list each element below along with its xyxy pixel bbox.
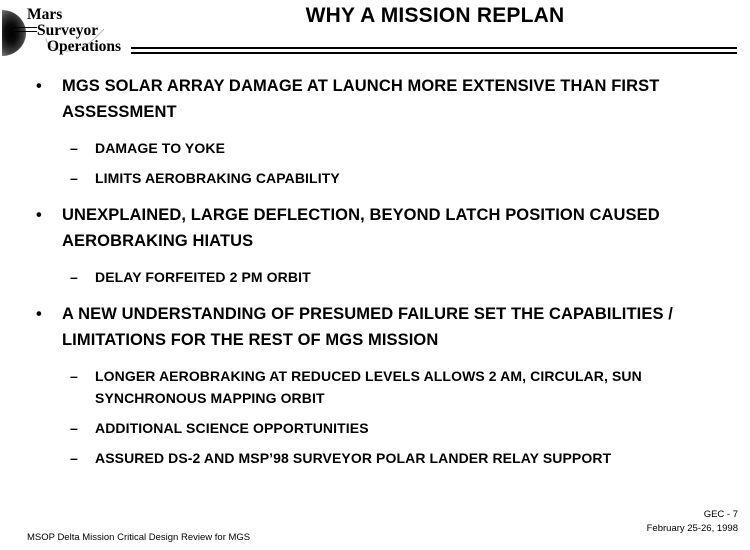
slide-footer: MSOP Delta Mission Critical Design Revie… xyxy=(0,505,750,550)
wordmark-line-3: Operations xyxy=(47,39,121,56)
bullet-level1: • UNEXPLAINED, LARGE DEFLECTION, BEYOND … xyxy=(0,203,750,254)
bullet-level1-text: MGS SOLAR ARRAY DAMAGE AT LAUNCH MORE EX… xyxy=(62,74,682,125)
page-title: WHY A MISSION REPLAN xyxy=(200,4,670,28)
bullet-level2: – DELAY FORFEITED 2 PM ORBIT xyxy=(0,266,750,288)
bullet-level2: – ASSURED DS-2 AND MSP’98 SURVEYOR POLAR… xyxy=(0,447,750,469)
footer-right-block: GEC - 7 February 25-26, 1998 xyxy=(647,508,738,536)
slide-header: Mars Surveyor Operations WHY A MISSION R… xyxy=(0,0,750,62)
bullet-dash-icon: – xyxy=(70,137,78,159)
footer-date-label: February 25-26, 1998 xyxy=(647,522,738,536)
bullet-dash-icon: – xyxy=(70,365,78,387)
bullet-level2-text: ADDITIONAL SCIENCE OPPORTUNITIES xyxy=(95,417,665,439)
bullet-level1: • MGS SOLAR ARRAY DAMAGE AT LAUNCH MORE … xyxy=(0,74,750,125)
bullet-dash-icon: – xyxy=(70,266,78,288)
bullet-level2-text: DELAY FORFEITED 2 PM ORBIT xyxy=(95,266,665,288)
slide-body: • MGS SOLAR ARRAY DAMAGE AT LAUNCH MORE … xyxy=(0,74,750,469)
bullet-level2: – DAMAGE TO YOKE xyxy=(0,137,750,159)
bullet-level2: – LIMITS AEROBRAKING CAPABILITY xyxy=(0,167,750,189)
bullet-dash-icon: – xyxy=(70,447,78,469)
bullet-level1-text: A NEW UNDERSTANDING OF PRESUMED FAILURE … xyxy=(62,302,682,353)
bullet-level1: • A NEW UNDERSTANDING OF PRESUMED FAILUR… xyxy=(0,302,750,353)
bullet-dot-icon: • xyxy=(36,302,42,328)
bullet-dot-icon: • xyxy=(36,74,42,100)
bullet-level2: – ADDITIONAL SCIENCE OPPORTUNITIES xyxy=(0,417,750,439)
bullet-level2-text: ASSURED DS-2 AND MSP’98 SURVEYOR POLAR L… xyxy=(95,447,665,469)
bullet-level2-text: DAMAGE TO YOKE xyxy=(95,137,665,159)
footer-page-label: GEC - 7 xyxy=(647,508,738,522)
bullet-dash-icon: – xyxy=(70,417,78,439)
footer-left-text: MSOP Delta Mission Critical Design Revie… xyxy=(27,532,250,543)
bullet-dot-icon: • xyxy=(36,203,42,229)
header-double-rule xyxy=(131,47,737,55)
bullet-level1-text: UNEXPLAINED, LARGE DEFLECTION, BEYOND LA… xyxy=(62,203,682,254)
bullet-level2-text: LIMITS AEROBRAKING CAPABILITY xyxy=(95,167,665,189)
bullet-level2-text: LONGER AEROBRAKING AT REDUCED LEVELS ALL… xyxy=(95,365,665,409)
bullet-dash-icon: – xyxy=(70,167,78,189)
bullet-level2: – LONGER AEROBRAKING AT REDUCED LEVELS A… xyxy=(0,365,750,409)
